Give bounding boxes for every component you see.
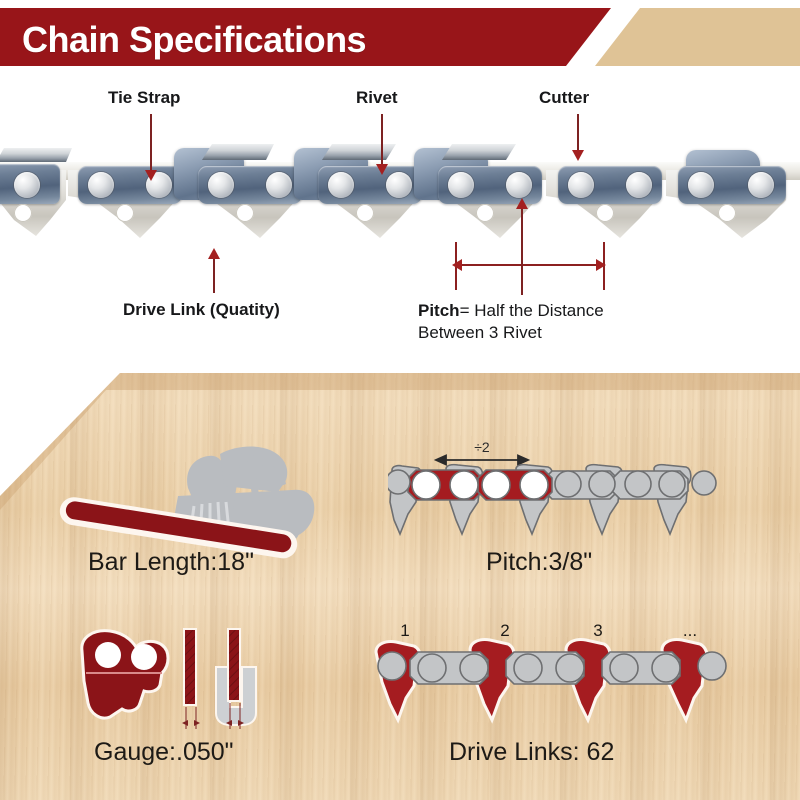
- drive-links-diagram: 1 2 3 ...: [370, 620, 730, 730]
- pitch-divide-callout: ÷2: [474, 439, 490, 455]
- wood-panel-section: [0, 360, 800, 800]
- label-tie-strap: Tie Strap: [108, 88, 180, 108]
- leader-line-rivet: [381, 114, 383, 166]
- chain-specifications-infographic: Chain Specifications: [0, 0, 800, 800]
- header-banner: Chain Specifications: [0, 8, 800, 66]
- drive-link-counter-1: 1: [400, 621, 409, 640]
- wood-panel-surface: [0, 360, 800, 800]
- leader-line-pitch: [521, 205, 523, 295]
- label-cutter: Cutter: [539, 88, 589, 108]
- pitch-note-line2: Between 3 Rivet: [418, 323, 542, 342]
- leader-arrow-cutter-icon: [572, 150, 584, 161]
- page-title: Chain Specifications: [22, 19, 366, 61]
- leader-arrow-rivet-icon: [376, 164, 388, 175]
- pitch-measure-line: [455, 264, 605, 266]
- leader-line-cutter: [577, 114, 579, 154]
- spec-label-gauge: Gauge:.050": [94, 738, 234, 767]
- drive-link-counter-ellipsis: ...: [683, 621, 697, 640]
- guide-bar-graphic: [60, 495, 300, 523]
- chainsaw-chain-photo: [0, 142, 800, 272]
- pitch-definition-note: Pitch= Half the Distance Between 3 Rivet: [418, 300, 604, 345]
- drive-link-counter-2: 2: [500, 621, 509, 640]
- spec-label-pitch: Pitch:3/8": [486, 548, 592, 577]
- gauge-diagram: [70, 625, 270, 730]
- pitch-note-rest: = Half the Distance: [460, 301, 604, 320]
- spec-label-bar-length: Bar Length:18": [88, 548, 254, 577]
- leader-arrow-pitch-icon: [516, 198, 528, 209]
- pitch-arrow-left-icon: [452, 259, 462, 271]
- label-drive-link: Drive Link (Quatity): [123, 300, 280, 320]
- leader-arrow-drive-link-icon: [208, 248, 220, 259]
- pitch-arrow-right-icon: [596, 259, 606, 271]
- drive-link-counter-3: 3: [593, 621, 602, 640]
- leader-arrow-tie-strap-icon: [145, 170, 157, 181]
- spec-label-drive-links: Drive Links: 62: [449, 738, 614, 767]
- label-rivet: Rivet: [356, 88, 398, 108]
- pitch-diagram: ÷2: [388, 436, 718, 548]
- pitch-note-bold: Pitch: [418, 301, 460, 320]
- chain-photo-section: [0, 66, 800, 356]
- leader-line-tie-strap: [150, 114, 152, 172]
- leader-line-drive-link: [213, 255, 215, 293]
